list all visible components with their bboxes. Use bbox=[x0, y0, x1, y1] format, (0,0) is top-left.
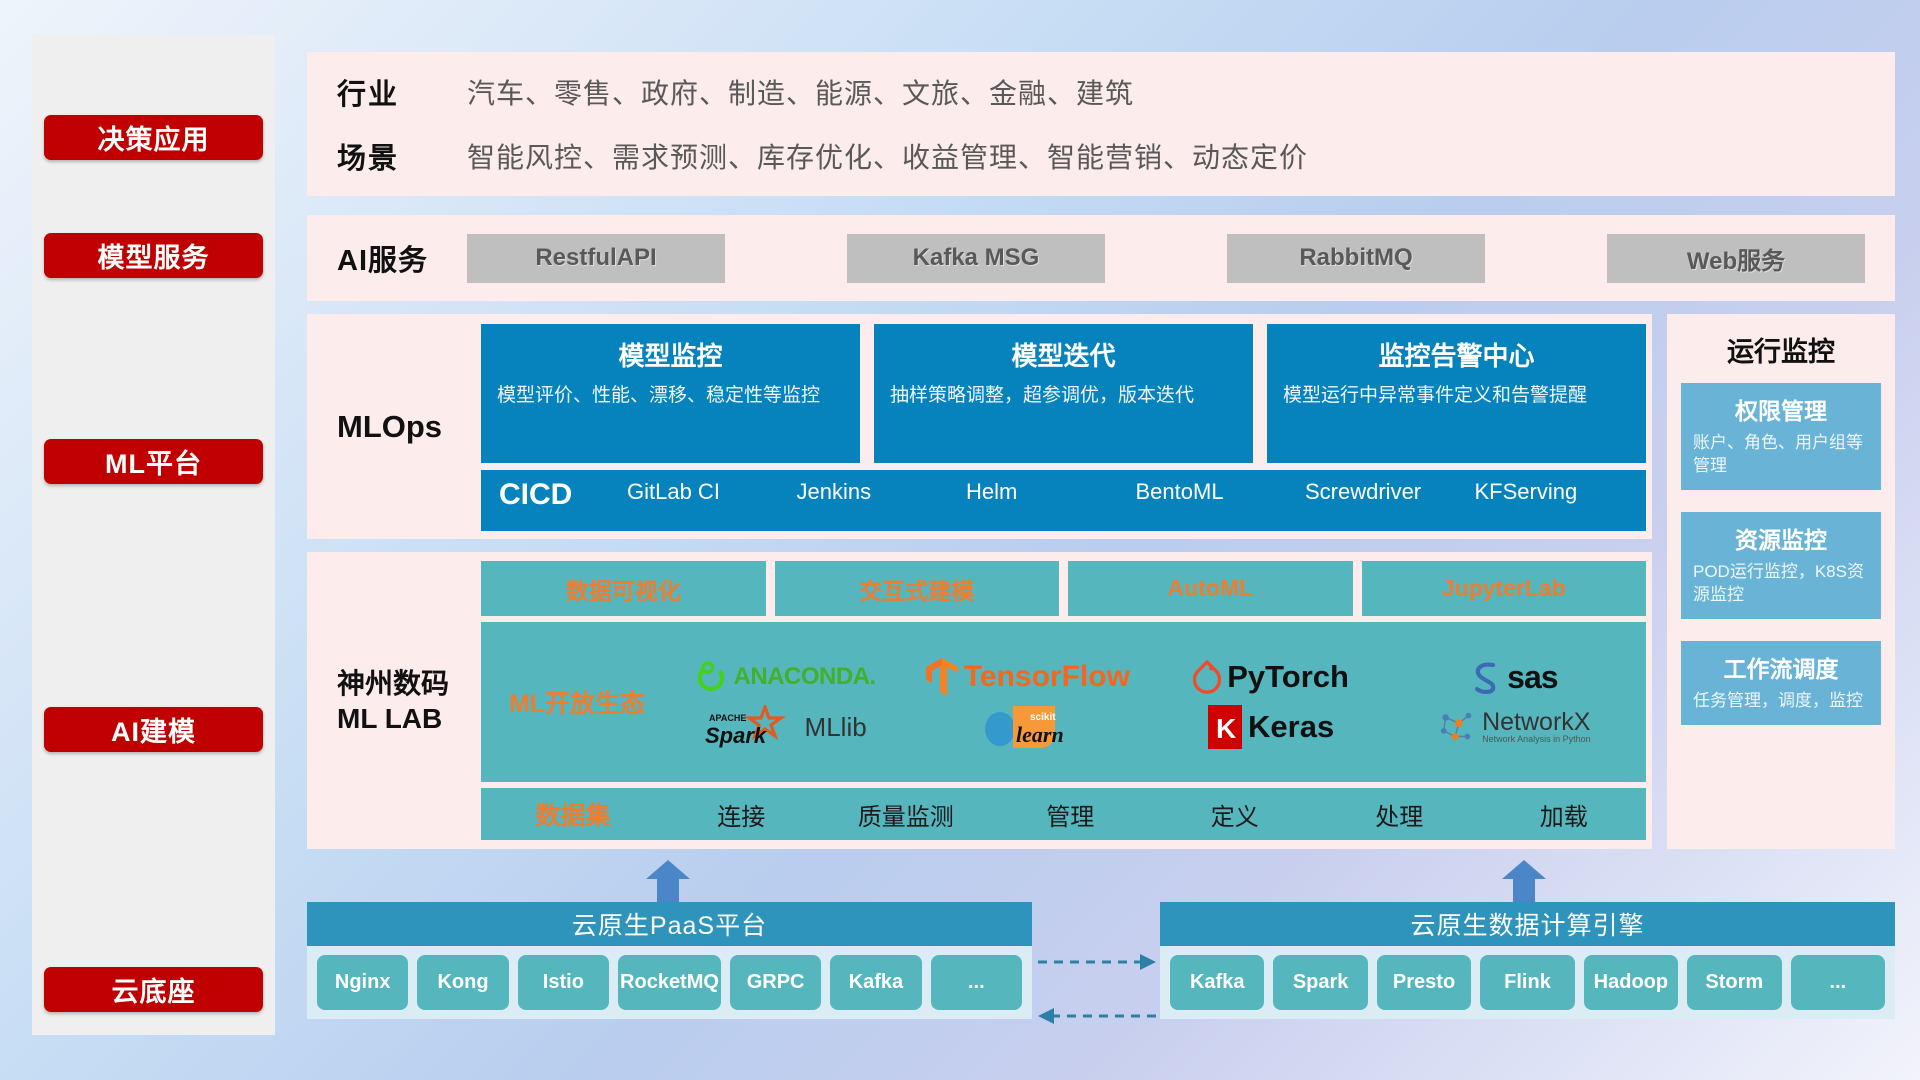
cicd-item-jenkins[interactable]: Jenkins bbox=[789, 478, 959, 506]
layer-rail: 决策应用 模型服务 ML平台 AI建模 云底座 bbox=[32, 35, 275, 1035]
monitor-card-title: 权限管理 bbox=[1693, 392, 1869, 426]
tensorflow-wordmark: TensorFlow bbox=[964, 660, 1130, 694]
pytorch-wordmark: PyTorch bbox=[1227, 659, 1349, 695]
scenario-value: 智能风控、需求预测、库存优化、收益管理、智能营销、动态定价 bbox=[467, 136, 1308, 176]
industry-key: 行业 bbox=[337, 71, 467, 113]
industry-row: 行业 汽车、零售、政府、制造、能源、文旅、金融、建筑 bbox=[337, 71, 1895, 113]
svg-text:K: K bbox=[1216, 713, 1236, 744]
monitor-card-workflow-scheduling[interactable]: 工作流调度 任务管理，调度，监控 bbox=[1681, 641, 1881, 725]
scikit-learn-logo: scikit learn bbox=[980, 702, 1076, 752]
svg-text:APACHE: APACHE bbox=[709, 713, 746, 723]
upward-arrow-icon-data-engine bbox=[1502, 860, 1546, 902]
ai-service-key: AI服务 bbox=[337, 237, 467, 279]
ml-open-ecosystem-row: ML开放生态 ANACONDA. bbox=[481, 622, 1646, 782]
upward-arrow-icon-paas bbox=[646, 860, 690, 902]
tensorflow-logo: TensorFlow bbox=[926, 658, 1130, 696]
dataset-item-connect[interactable]: 连接 bbox=[659, 797, 824, 832]
cicd-item-bentoml[interactable]: BentoML bbox=[1128, 478, 1298, 506]
cloud-paas-title: 云原生PaaS平台 bbox=[307, 902, 1032, 946]
runtime-monitoring-panel: 运行监控 权限管理 账户、角色、用户组等管理 资源监控 POD运行监控，K8S资… bbox=[1667, 314, 1895, 849]
anaconda-wordmark: ANACONDA. bbox=[734, 663, 876, 691]
cloud-native-paas-group: 云原生PaaS平台 Nginx Kong Istio RocketMQ GRPC… bbox=[307, 902, 1032, 1019]
networkx-tagline: Network Analysis in Python bbox=[1482, 735, 1591, 744]
monitor-card-title: 工作流调度 bbox=[1693, 650, 1869, 684]
ai-service-band: AI服务 RestfulAPI Kafka MSG RabbitMQ Web服务 bbox=[307, 215, 1895, 301]
industry-value: 汽车、零售、政府、制造、能源、文旅、金融、建筑 bbox=[467, 72, 1134, 112]
pytorch-logo: PyTorch bbox=[1193, 659, 1349, 695]
dataset-item-manage[interactable]: 管理 bbox=[988, 797, 1153, 832]
cicd-item-gitlab-ci[interactable]: GitLab CI bbox=[619, 478, 789, 506]
tool-chip-jupyterlab[interactable]: JupyterLab bbox=[1362, 561, 1647, 616]
cloud-data-engine-title: 云原生数据计算引擎 bbox=[1160, 902, 1895, 946]
mlops-key: MLOps bbox=[337, 314, 467, 539]
mlops-card-desc: 抽样策略调整，超参调优，版本迭代 bbox=[890, 383, 1237, 409]
scikit-learn-icon: scikit learn bbox=[980, 702, 1076, 752]
data-chip-flink[interactable]: Flink bbox=[1480, 955, 1574, 1010]
ai-service-chip-restfulapi[interactable]: RestfulAPI bbox=[467, 234, 725, 283]
keras-icon: K bbox=[1208, 705, 1242, 749]
mlops-card-model-monitoring[interactable]: 模型监控 模型评价、性能、漂移、稳定性等监控 bbox=[481, 324, 860, 463]
mlops-band: MLOps 模型监控 模型评价、性能、漂移、稳定性等监控 模型迭代 抽样策略调整… bbox=[307, 314, 1652, 539]
ai-service-chip-rabbitmq[interactable]: RabbitMQ bbox=[1227, 234, 1485, 283]
ai-service-chip-list: RestfulAPI Kafka MSG RabbitMQ Web服务 bbox=[467, 234, 1895, 283]
spark-icon: APACHE Spark bbox=[703, 705, 799, 749]
rail-chip-label: 决策应用 bbox=[98, 118, 210, 157]
cicd-title: CICD bbox=[499, 478, 619, 512]
dataset-item-load[interactable]: 加载 bbox=[1482, 797, 1647, 832]
dataset-label: 数据集 bbox=[487, 796, 659, 832]
ml-lab-key: 神州数码 ML LAB bbox=[337, 552, 467, 849]
dataset-item-quality-monitoring[interactable]: 质量监测 bbox=[824, 797, 989, 832]
networkx-icon bbox=[1438, 708, 1476, 746]
modeling-tool-row: 数据可视化 交互式建模 AutoML JupyterLab bbox=[481, 561, 1646, 616]
decision-apps-band: 行业 汽车、零售、政府、制造、能源、文旅、金融、建筑 场景 智能风控、需求预测、… bbox=[307, 52, 1895, 196]
sas-logo: sas bbox=[1471, 659, 1557, 696]
spark-mllib-logo: APACHE Spark MLlib bbox=[703, 705, 867, 749]
paas-chip-grpc[interactable]: GRPC bbox=[730, 955, 821, 1010]
networkx-logo: NetworkX Network Analysis in Python bbox=[1438, 708, 1591, 746]
data-chip-storm[interactable]: Storm bbox=[1687, 955, 1781, 1010]
mlops-card-title: 监控告警中心 bbox=[1283, 336, 1630, 373]
rail-chip-ml-platform[interactable]: ML平台 bbox=[44, 439, 263, 484]
rail-chip-label: 云底座 bbox=[112, 970, 196, 1009]
paas-chip-kafka[interactable]: Kafka bbox=[830, 955, 921, 1010]
ai-service-chip-kafka-msg[interactable]: Kafka MSG bbox=[847, 234, 1105, 283]
mlops-card-title: 模型迭代 bbox=[890, 336, 1237, 373]
mlops-card-desc: 模型评价、性能、漂移、稳定性等监控 bbox=[497, 383, 844, 409]
data-chip-kafka[interactable]: Kafka bbox=[1170, 955, 1264, 1010]
runtime-monitoring-title: 运行监控 bbox=[1681, 330, 1881, 369]
mlops-card-title: 模型监控 bbox=[497, 336, 844, 373]
svg-text:learn: learn bbox=[1016, 722, 1064, 747]
mllib-wordmark: MLlib bbox=[805, 712, 867, 743]
data-chip-presto[interactable]: Presto bbox=[1377, 955, 1471, 1010]
cicd-bar: CICD GitLab CI Jenkins Helm BentoML Scre… bbox=[481, 470, 1646, 531]
rail-chip-label: ML平台 bbox=[105, 442, 202, 481]
scenario-row: 场景 智能风控、需求预测、库存优化、收益管理、智能营销、动态定价 bbox=[337, 135, 1895, 177]
data-chip-more[interactable]: ... bbox=[1791, 955, 1885, 1010]
sas-wordmark: sas bbox=[1507, 659, 1557, 696]
cicd-item-screwdriver[interactable]: Screwdriver bbox=[1297, 478, 1467, 506]
ml-lab-key-line1: 神州数码 bbox=[337, 666, 449, 701]
cicd-item-kfserving[interactable]: KFServing bbox=[1467, 478, 1637, 506]
data-chip-spark[interactable]: Spark bbox=[1273, 955, 1367, 1010]
bidirectional-dashed-arrows-icon bbox=[1036, 946, 1158, 1032]
ml-open-ecosystem-label: ML开放生态 bbox=[491, 684, 663, 720]
paas-chip-more[interactable]: ... bbox=[931, 955, 1022, 1010]
monitor-card-desc: POD运行监控，K8S资源监控 bbox=[1693, 561, 1869, 607]
rail-chip-label: 模型服务 bbox=[98, 236, 210, 275]
tool-chip-automl[interactable]: AutoML bbox=[1068, 561, 1353, 616]
ai-service-chip-web-service[interactable]: Web服务 bbox=[1607, 234, 1865, 283]
keras-wordmark: Keras bbox=[1248, 709, 1334, 745]
svg-text:Spark: Spark bbox=[705, 723, 768, 748]
rail-chip-cloud-base[interactable]: 云底座 bbox=[44, 967, 263, 1012]
paas-chip-rocketmq[interactable]: RocketMQ bbox=[618, 955, 721, 1010]
monitor-card-title: 资源监控 bbox=[1693, 521, 1869, 555]
keras-logo: K Keras bbox=[1208, 705, 1334, 749]
paas-chip-istio[interactable]: Istio bbox=[518, 955, 609, 1010]
paas-chip-kong[interactable]: Kong bbox=[417, 955, 508, 1010]
monitor-card-desc: 任务管理，调度，监控 bbox=[1693, 690, 1869, 713]
anaconda-logo: ANACONDA. bbox=[694, 660, 876, 694]
tool-chip-data-visualization[interactable]: 数据可视化 bbox=[481, 561, 766, 616]
rail-chip-model-service[interactable]: 模型服务 bbox=[44, 233, 263, 278]
pytorch-icon bbox=[1193, 660, 1221, 694]
monitor-card-resource-monitoring[interactable]: 资源监控 POD运行监控，K8S资源监控 bbox=[1681, 512, 1881, 619]
networkx-wordmark: NetworkX bbox=[1482, 710, 1591, 735]
tensorflow-icon bbox=[926, 658, 958, 696]
scenario-key: 场景 bbox=[337, 135, 467, 177]
cloud-native-data-engine-group: 云原生数据计算引擎 Kafka Spark Presto Flink Hadoo… bbox=[1160, 902, 1895, 1019]
rail-chip-decision-apps[interactable]: 决策应用 bbox=[44, 115, 263, 160]
data-chip-hadoop[interactable]: Hadoop bbox=[1584, 955, 1678, 1010]
cicd-item-helm[interactable]: Helm bbox=[958, 478, 1128, 506]
anaconda-icon bbox=[694, 660, 728, 694]
paas-chip-nginx[interactable]: Nginx bbox=[317, 955, 408, 1010]
monitor-card-permission-management[interactable]: 权限管理 账户、角色、用户组等管理 bbox=[1681, 383, 1881, 490]
rail-chip-ai-modeling[interactable]: AI建模 bbox=[44, 707, 263, 752]
sas-icon bbox=[1471, 660, 1501, 694]
mlops-card-alert-center[interactable]: 监控告警中心 模型运行中异常事件定义和告警提醒 bbox=[1267, 324, 1646, 463]
mlops-card-model-iteration[interactable]: 模型迭代 抽样策略调整，超参调优，版本迭代 bbox=[874, 324, 1253, 463]
dataset-item-process[interactable]: 处理 bbox=[1317, 797, 1482, 832]
mlops-card-desc: 模型运行中异常事件定义和告警提醒 bbox=[1283, 383, 1630, 409]
dataset-item-define[interactable]: 定义 bbox=[1153, 797, 1318, 832]
ai-modeling-band: 神州数码 ML LAB 数据可视化 交互式建模 AutoML JupyterLa… bbox=[307, 552, 1652, 849]
dataset-row: 数据集 连接 质量监测 管理 定义 处理 加载 bbox=[481, 788, 1646, 840]
ml-lab-key-line2: ML LAB bbox=[337, 701, 449, 736]
tool-chip-interactive-modeling[interactable]: 交互式建模 bbox=[775, 561, 1060, 616]
monitor-card-desc: 账户、角色、用户组等管理 bbox=[1693, 432, 1869, 478]
rail-chip-label: AI建模 bbox=[111, 710, 196, 749]
